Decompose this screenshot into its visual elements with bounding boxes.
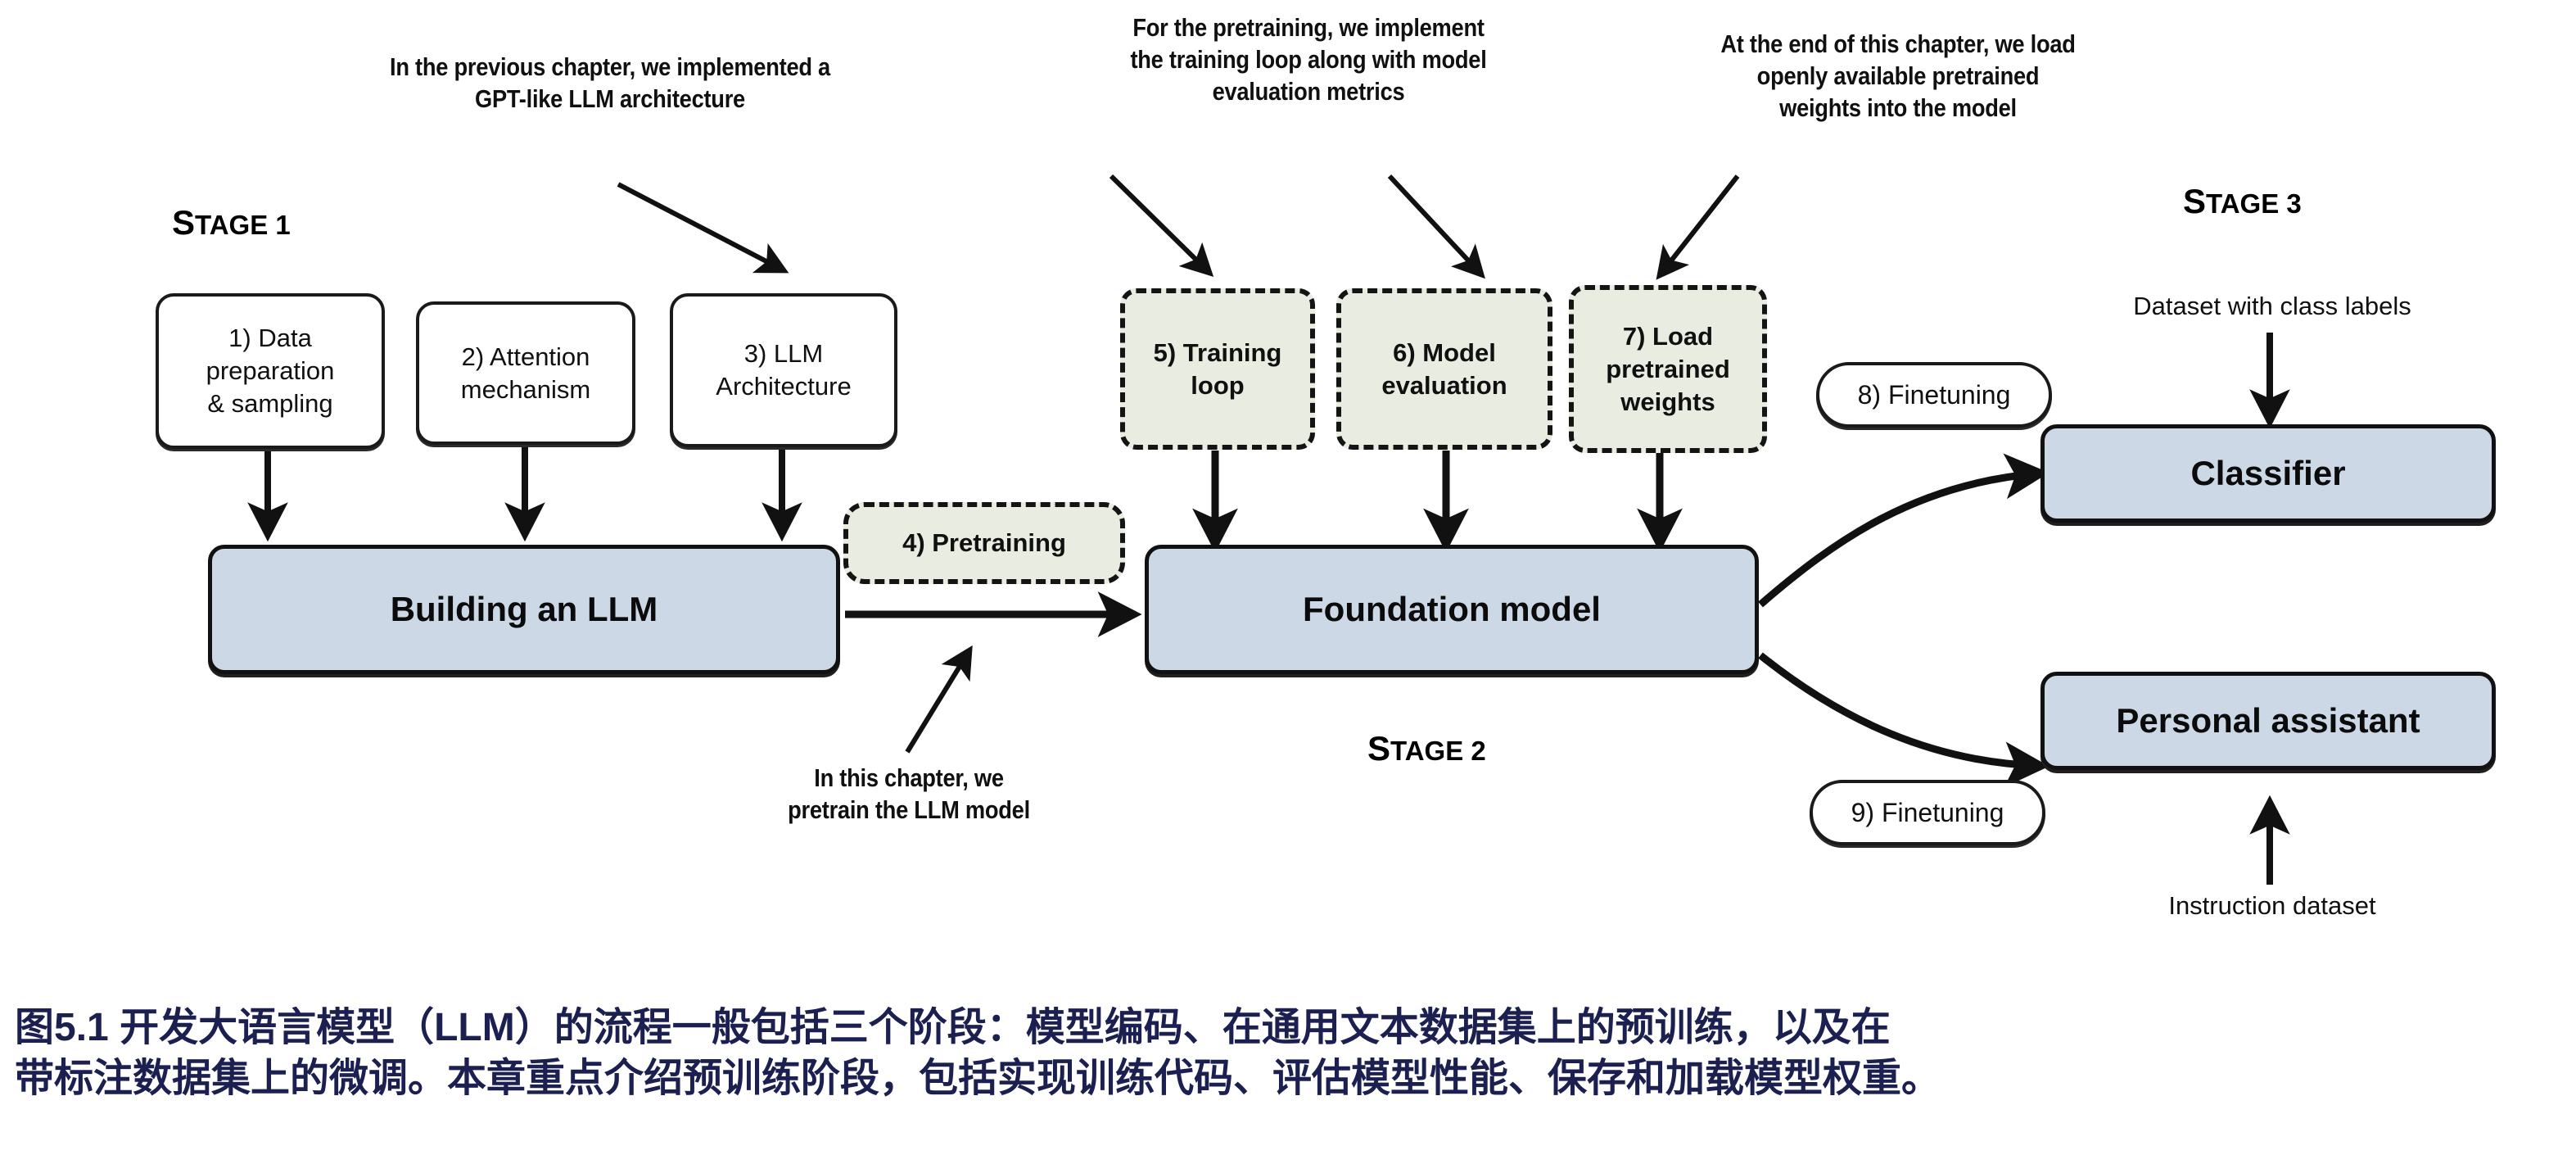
stage-label-1: STAGE 1 [172, 203, 291, 242]
box-attention-mechanism[interactable]: 2) Attention mechanism [416, 301, 635, 445]
stage-label-2-prefix: S [1367, 729, 1390, 768]
figure-canvas: In the previous chapter, we implemented … [0, 0, 2576, 1173]
stage-label-2: STAGE 2 [1367, 729, 1486, 768]
stage-label-1-rest: TAGE 1 [195, 210, 291, 240]
box-building-an-llm[interactable]: Building an LLM [208, 545, 840, 674]
box-finetuning-assistant[interactable]: 9) Finetuning [1810, 780, 2045, 845]
figure-caption-line-2: 带标注数据集上的微调。本章重点介绍预训练阶段，包括实现训练代码、评估模型性能、保… [15, 1053, 2569, 1104]
label-instruction-dataset: Instruction dataset [2129, 891, 2416, 921]
callout-this-chapter: In this chapter, we pretrain the LLM mod… [743, 762, 1075, 826]
figure-caption-line-1: 图5.1 开发大语言模型（LLM）的流程一般包括三个阶段：模型编码、在通用文本数… [15, 1003, 2569, 1053]
callout-pretraining-loop: For the pretraining, we implement the tr… [1056, 11, 1561, 107]
callout-load-weights: At the end of this chapter, we load open… [1646, 28, 2150, 124]
box-training-loop[interactable]: 5) Training loop [1120, 288, 1315, 450]
label-dataset-class: Dataset with class labels [2096, 292, 2448, 321]
box-data-preparation[interactable]: 1) Data preparation & sampling [156, 293, 385, 449]
stage-label-3-prefix: S [2183, 182, 2206, 220]
stage-label-2-rest: TAGE 2 [1390, 736, 1486, 766]
box-model-evaluation[interactable]: 6) Model evaluation [1336, 288, 1552, 450]
callout-previous-chapter: In the previous chapter, we implemented … [311, 51, 909, 115]
box-classifier[interactable]: Classifier [2040, 424, 2496, 523]
box-pretraining[interactable]: 4) Pretraining [843, 502, 1125, 584]
stage-label-1-prefix: S [172, 203, 195, 242]
box-foundation-model[interactable]: Foundation model [1145, 545, 1759, 674]
box-load-pretrained-weights[interactable]: 7) Load pretrained weights [1569, 285, 1767, 453]
stage-label-3-rest: TAGE 3 [2206, 188, 2302, 219]
stage-label-3: STAGE 3 [2183, 182, 2302, 221]
box-personal-assistant[interactable]: Personal assistant [2040, 672, 2496, 770]
figure-caption: 图5.1 开发大语言模型（LLM）的流程一般包括三个阶段：模型编码、在通用文本数… [15, 1003, 2569, 1104]
box-finetuning-classifier[interactable]: 8) Finetuning [1816, 362, 2052, 428]
box-llm-architecture[interactable]: 3) LLM Architecture [670, 293, 897, 447]
